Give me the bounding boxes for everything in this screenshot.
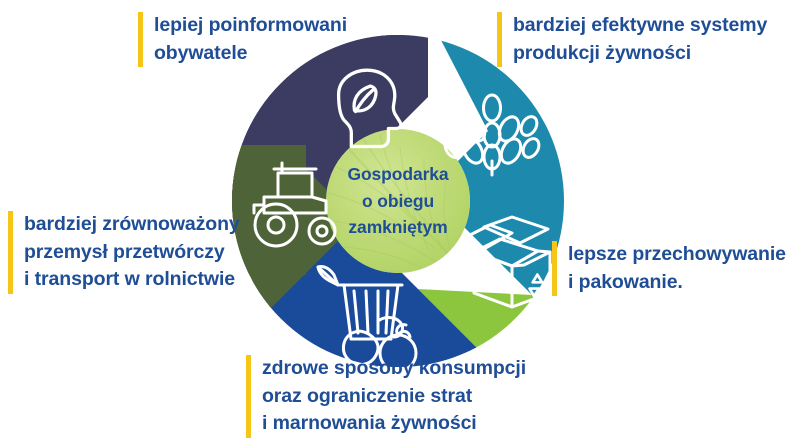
infographic-canvas: Gospodarka o obiegu zamkniętym lepiej po… (0, 0, 800, 443)
callout-accent-bar (138, 12, 143, 67)
callout-accent-bar (497, 12, 502, 67)
callout-informed-citizens: lepiej poinformowani obywatele (138, 12, 347, 67)
callout-line: lepiej poinformowani (154, 12, 347, 40)
callout-line: obywatele (154, 40, 347, 68)
callout-text: bardziej efektywne systemy produkcji żyw… (513, 12, 767, 67)
callout-accent-bar (246, 355, 251, 438)
callout-line: i transport w rolnictwie (24, 266, 240, 294)
callout-consumption-waste: zdrowe sposoby konsumpcji oraz ogranicze… (246, 355, 526, 438)
callout-line: bardziej zrównoważony (24, 211, 240, 239)
circular-economy-wheel (232, 35, 564, 367)
callout-accent-bar (552, 241, 557, 296)
callout-line: lepsze przechowywanie (568, 241, 786, 269)
callout-storage-packaging: lepsze przechowywanie i pakowanie. (552, 241, 786, 296)
callout-line: bardziej efektywne systemy (513, 12, 767, 40)
callout-text: bardziej zrównoważony przemysł przetwórc… (24, 211, 240, 294)
callout-text: lepsze przechowywanie i pakowanie. (568, 241, 786, 296)
callout-text: lepiej poinformowani obywatele (154, 12, 347, 67)
callout-line: zdrowe sposoby konsumpcji (262, 355, 526, 383)
callout-line: i marnowania żywności (262, 410, 526, 438)
callout-food-production: bardziej efektywne systemy produkcji żyw… (497, 12, 767, 67)
callout-line: przemysł przetwórczy (24, 239, 240, 267)
callout-line: i pakowanie. (568, 269, 786, 297)
callout-processing-transport: bardziej zrównoważony przemysł przetwórc… (8, 211, 240, 294)
callout-line: oraz ograniczenie strat (262, 383, 526, 411)
segment-processing-transport-tail (232, 145, 306, 275)
callout-accent-bar (8, 211, 13, 294)
callout-line: produkcji żywności (513, 40, 767, 68)
callout-text: zdrowe sposoby konsumpcji oraz ogranicze… (262, 355, 526, 438)
